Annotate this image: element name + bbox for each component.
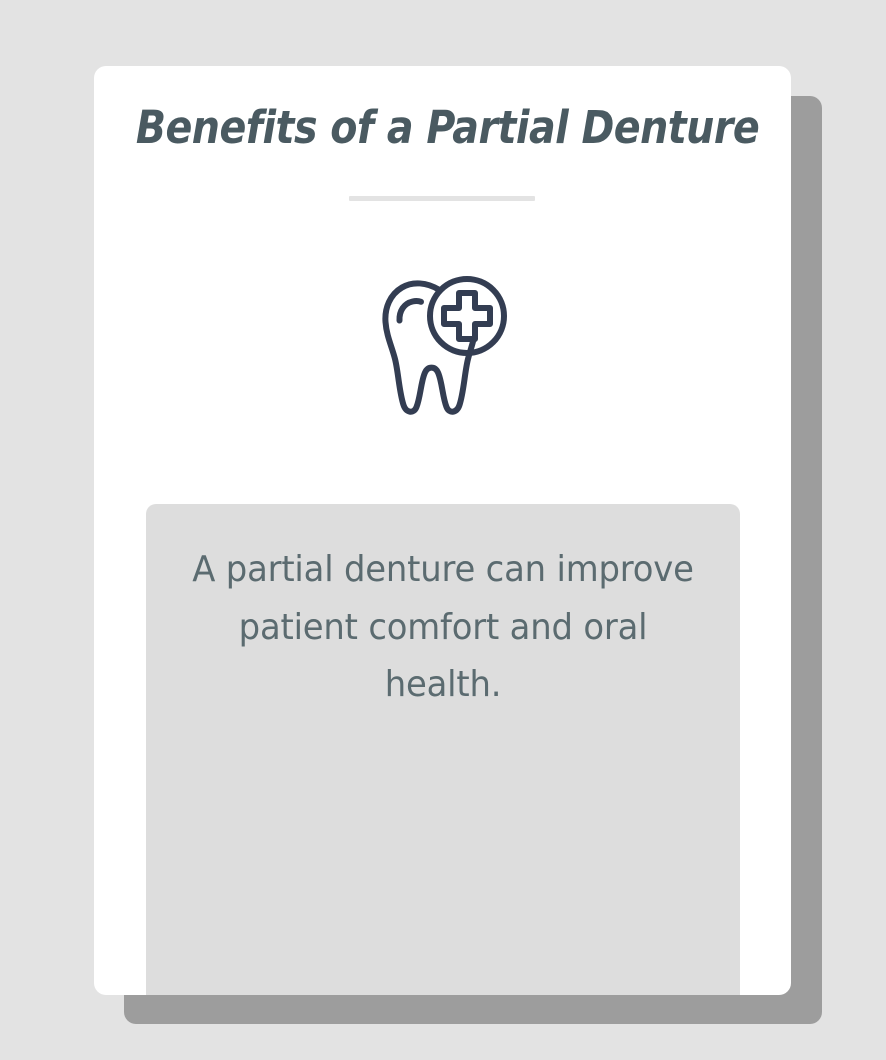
body-panel: A partial denture can improve patient co…	[146, 504, 740, 995]
tooth-with-medical-cross-icon	[375, 273, 511, 421]
slide-canvas: Benefits of a Partial Denture A partial …	[0, 0, 886, 1060]
content-card: Benefits of a Partial Denture A partial …	[94, 66, 791, 995]
page-title: Benefits of a Partial Denture	[136, 103, 749, 153]
body-text: A partial denture can improve patient co…	[164, 541, 722, 714]
title-divider	[349, 196, 535, 201]
